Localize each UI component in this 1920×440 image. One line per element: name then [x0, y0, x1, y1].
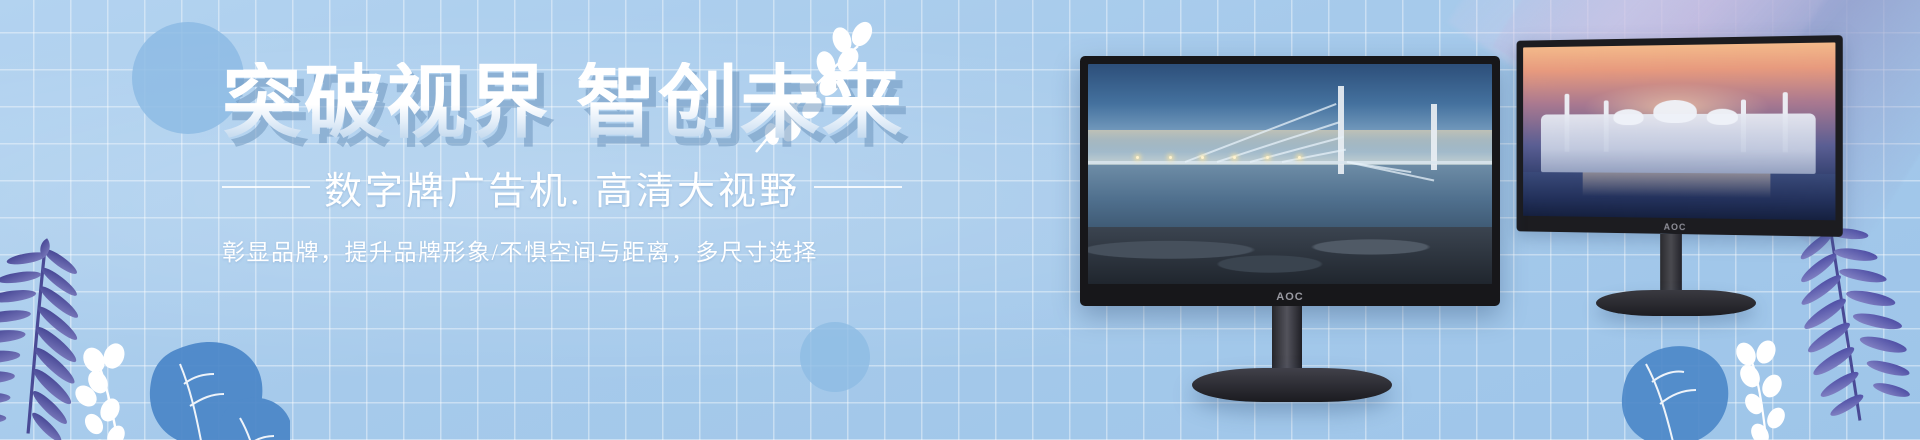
tagline-row: 彰显品牌，提升品牌形象/不惧空间与距离，多尺寸选择	[222, 233, 902, 267]
monitor-primary-screen	[1088, 64, 1492, 284]
tagline: 彰显品牌，提升品牌形象/不惧空间与距离，多尺寸选择	[222, 233, 818, 267]
copy-block: 突破视界智创未来 数字牌广告机. 高清大视野 彰显品牌，提升品牌形象/不惧空间与…	[222, 62, 902, 267]
monitor-secondary-base	[1596, 290, 1756, 316]
brand-logo-secondary: AOC	[1517, 220, 1843, 235]
monitor-primary-base	[1192, 368, 1392, 402]
monitor-secondary: AOC	[1510, 38, 1840, 234]
dome-left-icon	[1613, 109, 1644, 125]
product-banner: 突破视界智创未来 数字牌广告机. 高清大视野 彰显品牌，提升品牌形象/不惧空间与…	[0, 0, 1920, 440]
product-showcase: AOC	[1080, 0, 1920, 440]
water-surface	[1088, 165, 1492, 235]
bridge-lamp-2	[1169, 156, 1172, 159]
page-title: 突破视界智创未来	[222, 62, 902, 144]
dome-right-icon	[1706, 109, 1738, 125]
bridge-lamp-4	[1233, 156, 1236, 159]
bridge-lamp-1	[1136, 156, 1139, 159]
screen-image-bridge	[1088, 64, 1492, 284]
divider-right	[814, 186, 902, 188]
monitor-primary: AOC	[1080, 56, 1500, 306]
subheadline: 数字牌广告机. 高清大视野	[324, 160, 800, 215]
foreground-rocks	[1088, 227, 1492, 284]
bridge-lamp-5	[1266, 156, 1269, 159]
brand-logo-primary: AOC	[1080, 291, 1500, 303]
headline-part-1: 突破视界	[222, 58, 550, 147]
monitor-primary-neck	[1272, 306, 1302, 376]
monitor-secondary-neck	[1660, 234, 1682, 298]
divider-left	[222, 186, 310, 188]
bridge-tower-far-icon	[1431, 104, 1437, 170]
bridge-lamp-3	[1201, 156, 1204, 159]
reflection-glow	[1583, 172, 1770, 198]
screen-image-mosque	[1523, 42, 1835, 220]
monitor-secondary-frame: AOC	[1517, 35, 1843, 237]
dome-center-icon	[1653, 100, 1697, 123]
subheadline-row: 数字牌广告机. 高清大视野	[222, 160, 902, 215]
headline-part-2: 智创未来	[576, 58, 904, 147]
monitor-secondary-screen	[1523, 42, 1835, 220]
monitor-primary-frame: AOC	[1080, 56, 1500, 306]
circle-accent-small-icon	[800, 322, 870, 392]
